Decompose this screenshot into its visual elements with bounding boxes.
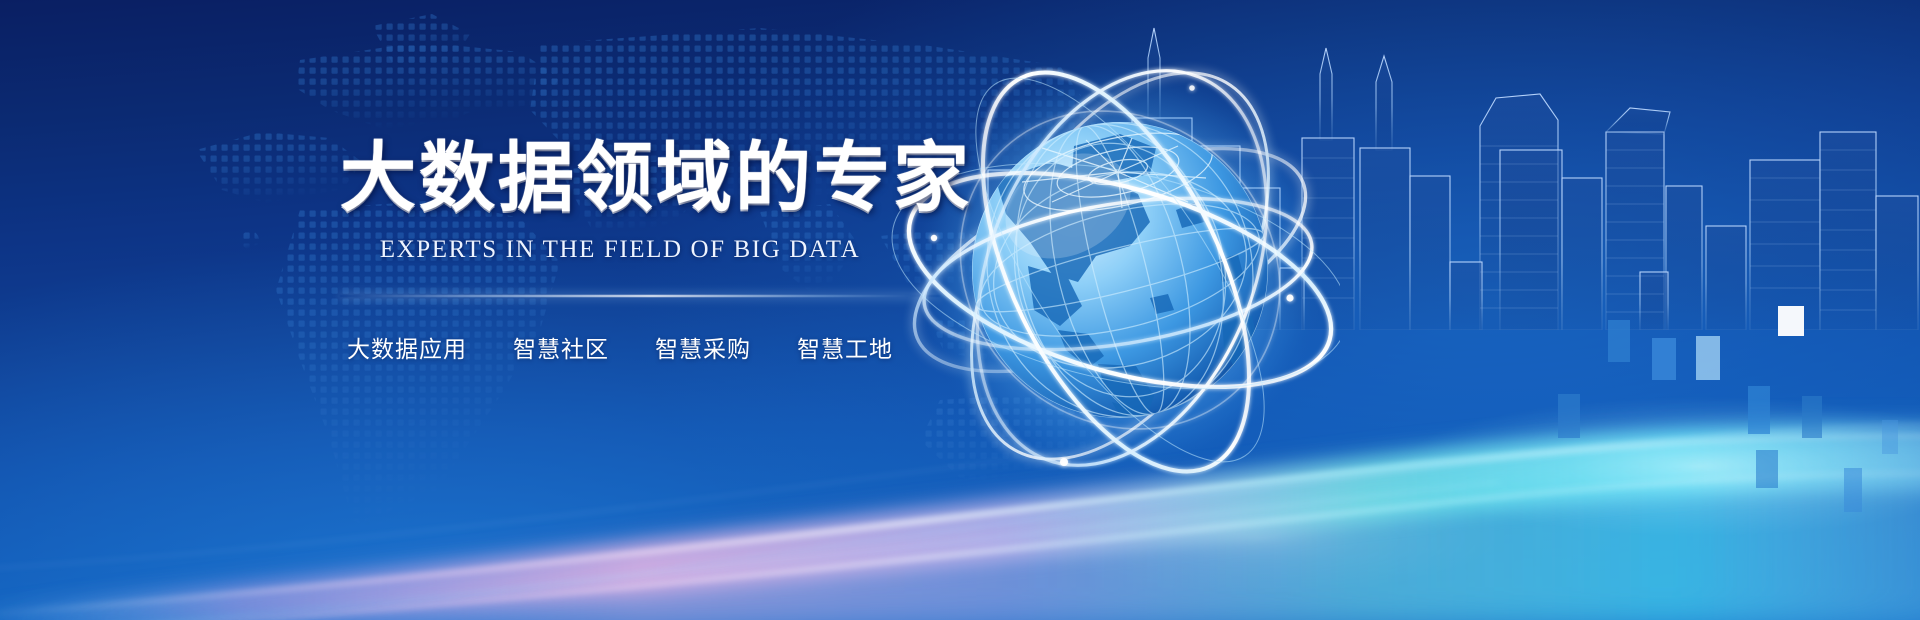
city-skyline-icon bbox=[980, 0, 1920, 330]
page-subtitle: EXPERTS IN THE FIELD OF BIG DATA bbox=[340, 236, 900, 264]
keyword-big-data-application[interactable]: 大数据应用 bbox=[347, 330, 467, 364]
keyword-smart-community[interactable]: 智慧社区 bbox=[513, 330, 609, 364]
big-data-hero-banner: 大数据领域的专家 EXPERTS IN THE FIELD OF BIG DAT… bbox=[0, 0, 1920, 620]
keyword-list: 大数据应用 智慧社区 智慧采购 智慧工地 bbox=[340, 330, 900, 364]
page-title: 大数据领域的专家 bbox=[340, 140, 900, 216]
keyword-smart-procurement[interactable]: 智慧采购 bbox=[655, 330, 751, 364]
keyword-smart-construction-site[interactable]: 智慧工地 bbox=[797, 330, 893, 364]
divider bbox=[340, 290, 940, 302]
floating-squares bbox=[1500, 300, 1920, 530]
hero-text-block: 大数据领域的专家 EXPERTS IN THE FIELD OF BIG DAT… bbox=[340, 140, 900, 364]
aurora-light-sweep bbox=[0, 370, 1920, 620]
